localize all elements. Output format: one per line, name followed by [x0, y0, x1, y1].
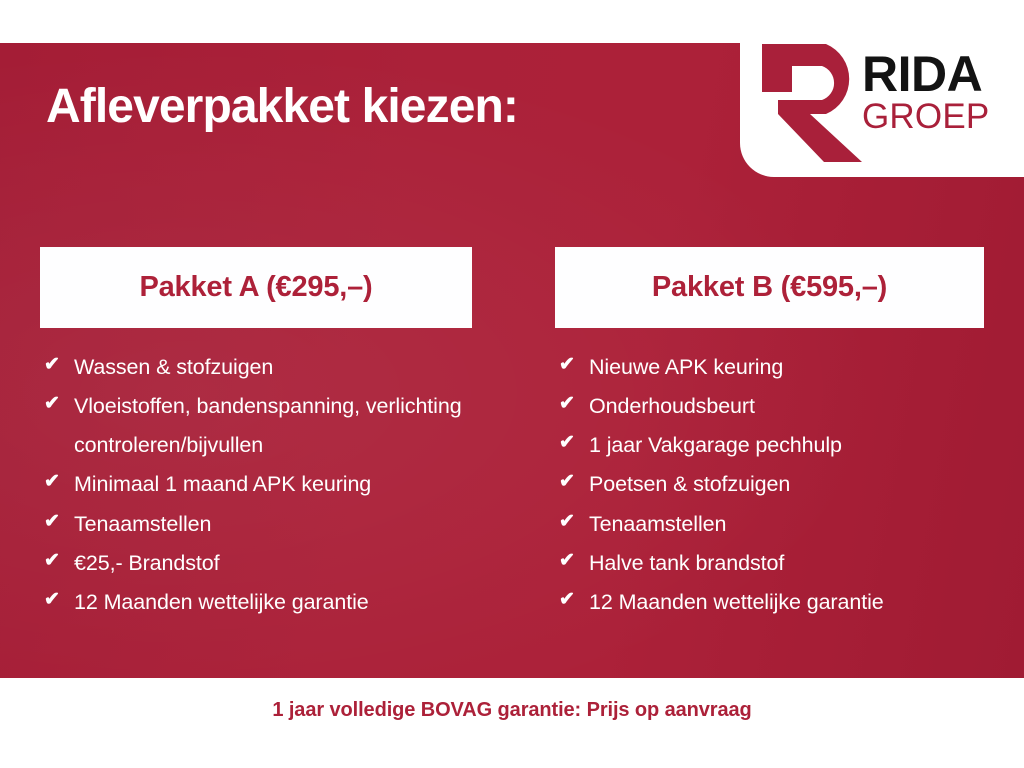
package-a-header-card[interactable]: Pakket A (€295,–)	[40, 247, 472, 328]
check-icon: ✔	[559, 583, 589, 618]
list-item: ✔ Wassen & stofzuigen	[44, 348, 472, 387]
check-icon: ✔	[44, 348, 74, 383]
package-b-title: Pakket B (€595,–)	[652, 271, 887, 304]
list-item: ✔ Tenaamstellen	[559, 505, 984, 544]
check-icon: ✔	[559, 544, 589, 579]
footer-bar: 1 jaar volledige BOVAG garantie: Prijs o…	[0, 678, 1024, 768]
list-item: ✔ Nieuwe APK keuring	[559, 348, 984, 387]
list-item-label: Onderhoudsbeurt	[589, 387, 984, 426]
list-item-label: Tenaamstellen	[74, 505, 472, 544]
footer-note: 1 jaar volledige BOVAG garantie: Prijs o…	[0, 699, 1024, 722]
list-item-label: 1 jaar Vakgarage pechhulp	[589, 426, 984, 465]
list-item-label: Minimaal 1 maand APK keuring	[74, 465, 472, 504]
check-icon: ✔	[559, 387, 589, 422]
list-item-label: Wassen & stofzuigen	[74, 348, 472, 387]
list-item: ✔ Poetsen & stofzuigen	[559, 465, 984, 504]
list-item: ✔ Onderhoudsbeurt	[559, 387, 984, 426]
check-icon: ✔	[559, 426, 589, 461]
check-icon: ✔	[44, 465, 74, 500]
list-item-label: Vloeistoffen, bandenspanning, verlichtin…	[74, 387, 472, 465]
list-item: ✔ 12 Maanden wettelijke garantie	[559, 583, 984, 622]
brand-logo-wordmark: RIDA GROEP	[862, 51, 1012, 134]
list-item: ✔ €25,- Brandstof	[44, 544, 472, 583]
check-icon: ✔	[44, 544, 74, 579]
list-item: ✔ 12 Maanden wettelijke garantie	[44, 583, 472, 622]
package-a-feature-list: ✔ Wassen & stofzuigen ✔ Vloeistoffen, ba…	[40, 328, 472, 622]
list-item: ✔ Halve tank brandstof	[559, 544, 984, 583]
list-item-label: 12 Maanden wettelijke garantie	[74, 583, 472, 622]
list-item-label: €25,- Brandstof	[74, 544, 472, 583]
rida-r-monogram-icon	[758, 40, 864, 166]
brand-name-primary: RIDA	[862, 51, 1012, 98]
check-icon: ✔	[559, 348, 589, 383]
list-item: ✔ Vloeistoffen, bandenspanning, verlicht…	[44, 387, 472, 465]
list-item: ✔ Tenaamstellen	[44, 505, 472, 544]
check-icon: ✔	[44, 583, 74, 618]
package-a-title: Pakket A (€295,–)	[139, 271, 372, 304]
list-item-label: Nieuwe APK keuring	[589, 348, 984, 387]
list-item: ✔ 1 jaar Vakgarage pechhulp	[559, 426, 984, 465]
check-icon: ✔	[44, 505, 74, 540]
list-item: ✔ Minimaal 1 maand APK keuring	[44, 465, 472, 504]
list-item-label: Poetsen & stofzuigen	[589, 465, 984, 504]
page-title: Afleverpakket kiezen:	[46, 79, 518, 134]
list-item-label: Halve tank brandstof	[589, 544, 984, 583]
package-b-header-card[interactable]: Pakket B (€595,–)	[555, 247, 984, 328]
slide-canvas: Afleverpakket kiezen: RIDA GROEP Pakket …	[0, 0, 1024, 768]
brand-name-secondary: GROEP	[862, 99, 1012, 134]
check-icon: ✔	[44, 387, 74, 422]
list-item-label: Tenaamstellen	[589, 505, 984, 544]
brand-logo-panel: RIDA GROEP	[740, 29, 1024, 177]
check-icon: ✔	[559, 465, 589, 500]
package-column-a: Pakket A (€295,–) ✔ Wassen & stofzuigen …	[40, 247, 472, 622]
package-b-feature-list: ✔ Nieuwe APK keuring ✔ Onderhoudsbeurt ✔…	[555, 328, 984, 622]
check-icon: ✔	[559, 505, 589, 540]
list-item-label: 12 Maanden wettelijke garantie	[589, 583, 984, 622]
package-column-b: Pakket B (€595,–) ✔ Nieuwe APK keuring ✔…	[555, 247, 984, 622]
